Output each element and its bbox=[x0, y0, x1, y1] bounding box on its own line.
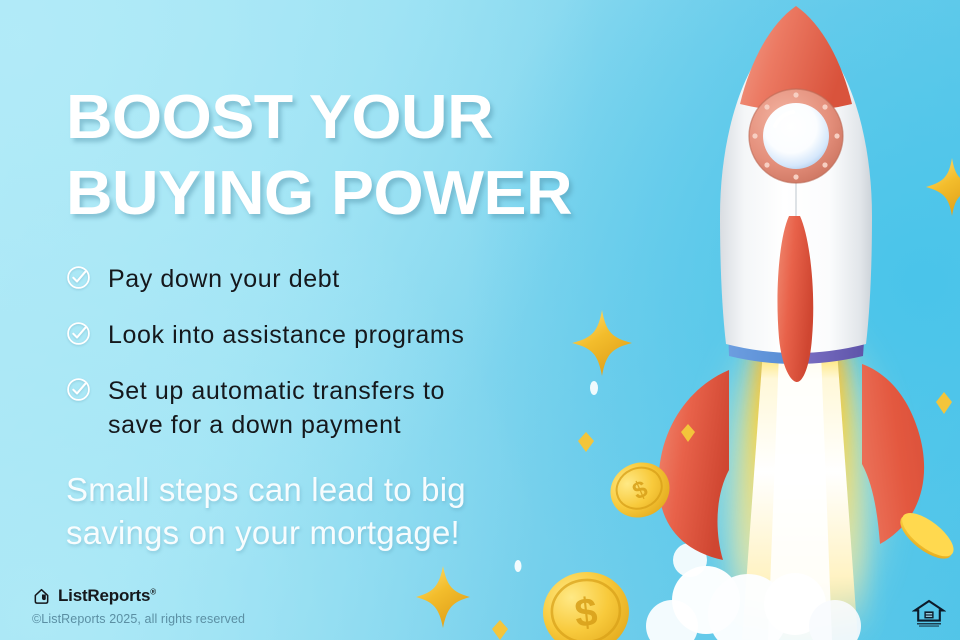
porthole-window bbox=[749, 89, 843, 183]
sparkle-star bbox=[926, 158, 960, 216]
listreports-house-logo-icon bbox=[32, 587, 51, 606]
trademark-symbol: ® bbox=[150, 587, 156, 596]
list-item-label: Set up automatic transfers to save for a… bbox=[108, 377, 445, 439]
copy-block: BOOST YOUR BUYING POWER Pay down your de… bbox=[66, 0, 686, 640]
list-item: Pay down your debt bbox=[66, 262, 626, 296]
copyright-text: ©ListReports 2025, all rights reserved bbox=[32, 612, 245, 626]
equal-housing-opportunity-icon bbox=[912, 598, 946, 628]
benefits-list: Pay down your debt Look into assistance … bbox=[66, 262, 626, 442]
list-item-label: Pay down your debt bbox=[108, 265, 340, 293]
circle-check-icon bbox=[66, 265, 91, 290]
page-title: BOOST YOUR BUYING POWER bbox=[66, 80, 711, 232]
tagline: Small steps can lead to big savings on y… bbox=[66, 468, 626, 554]
circle-check-icon bbox=[66, 377, 91, 402]
circle-check-icon bbox=[66, 321, 91, 346]
brand-name: ListReports® bbox=[58, 586, 156, 606]
poster-canvas: $ $ bbox=[0, 0, 960, 640]
list-item-label: Look into assistance programs bbox=[108, 321, 464, 349]
brand-lockup: ListReports® bbox=[32, 586, 245, 606]
footer: ListReports® ©ListReports 2025, all righ… bbox=[32, 586, 245, 626]
list-item: Look into assistance programs bbox=[66, 318, 626, 352]
list-item: Set up automatic transfers to save for a… bbox=[66, 374, 626, 442]
